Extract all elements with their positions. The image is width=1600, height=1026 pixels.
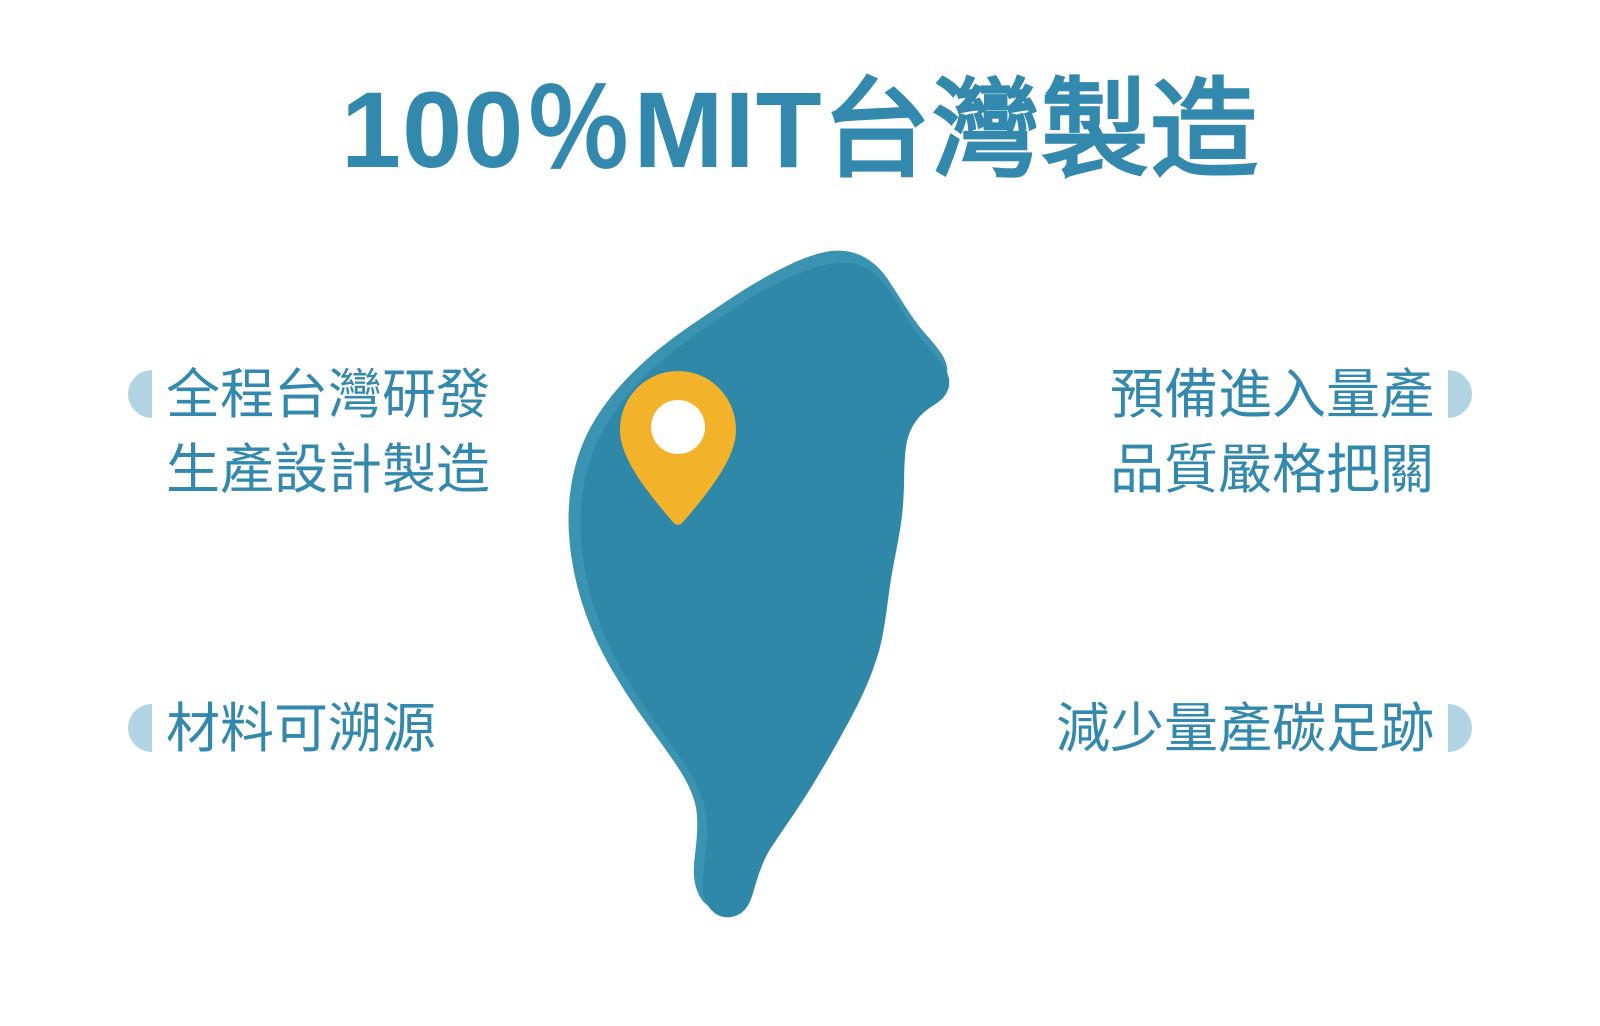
taiwan-map-body — [580, 262, 949, 917]
feature-bottom-right: 減少量產碳足跡 — [1056, 692, 1472, 767]
feature-line: 預備進入量產 — [1110, 358, 1434, 433]
feature-bottom-left-text: 材料可溯源 — [166, 692, 436, 767]
bullet-marker-icon — [1448, 704, 1472, 752]
feature-bottom-left: 材料可溯源 — [128, 692, 436, 767]
feature-top-left: 全程台灣研發 生產設計製造 — [128, 358, 490, 507]
feature-line: 減少量產碳足跡 — [1056, 692, 1434, 767]
feature-bottom-right-text: 減少量產碳足跡 — [1056, 692, 1434, 767]
page-title: 100％MIT台灣製造 — [0, 72, 1600, 189]
feature-line: 全程台灣研發 — [166, 358, 490, 433]
bullet-marker-icon — [1448, 370, 1472, 418]
feature-top-left-text: 全程台灣研發 生產設計製造 — [166, 358, 490, 507]
bullet-marker-icon — [128, 370, 152, 418]
infographic-canvas: 100％MIT台灣製造 全程台灣研發 生產設計製造 預備進入量產 品質嚴格把關 — [0, 0, 1600, 1026]
feature-top-right: 預備進入量產 品質嚴格把關 — [1110, 358, 1472, 507]
feature-line: 品質嚴格把關 — [1110, 433, 1434, 508]
feature-line: 材料可溯源 — [166, 692, 436, 767]
feature-top-right-text: 預備進入量產 品質嚴格把關 — [1110, 358, 1434, 507]
taiwan-map — [545, 243, 965, 918]
feature-line: 生產設計製造 — [166, 433, 490, 508]
pin-hole — [651, 400, 705, 454]
bullet-marker-icon — [128, 704, 152, 752]
